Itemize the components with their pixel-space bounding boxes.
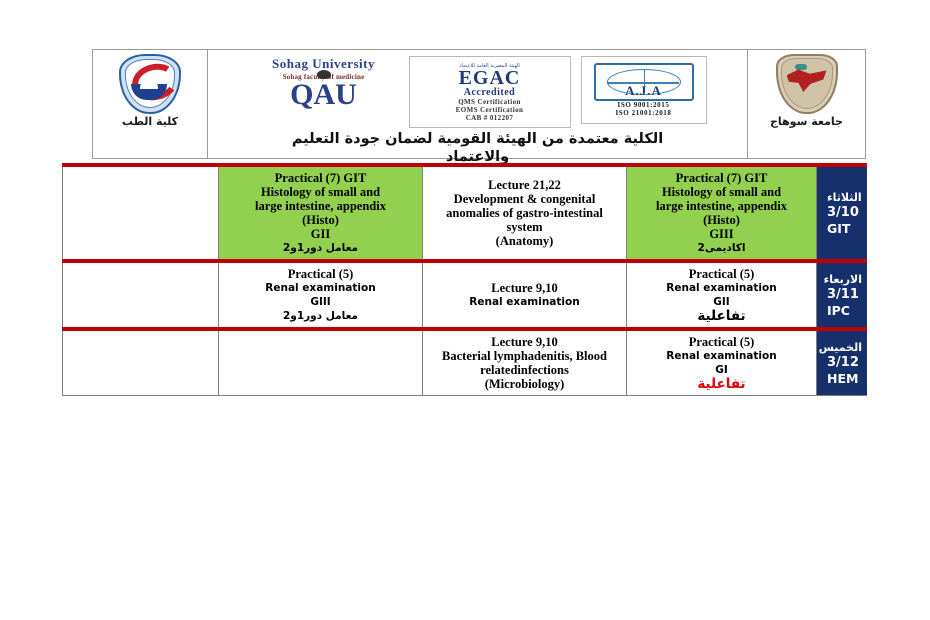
schedule-cell-practical-left[interactable] (219, 329, 423, 396)
schedule-day-date: 3/12 (827, 355, 862, 371)
schedule-cell-content: Practical (7) GITHistology of small andl… (631, 171, 812, 255)
schedule-day-date: 3/11 (827, 287, 862, 303)
schedule-cell-line: تفاعلية (631, 377, 812, 391)
schedule-day-date: 3/10 (827, 205, 862, 221)
schedule-cell-practical-left[interactable]: Practical (7) GITHistology of small andl… (219, 165, 423, 261)
schedule-cell-line: Lecture 9,10 (427, 335, 622, 349)
schedule-cell-line: (Histo) (631, 213, 812, 227)
schedule-cell-lecture[interactable]: Lecture 9,10Bacterial lymphadenitis, Blo… (423, 329, 627, 396)
schedule-cell-lecture[interactable]: Lecture 9,10Renal examination (423, 261, 627, 329)
schedule-table: Practical (7) GITHistology of small andl… (62, 163, 867, 396)
faculty-of-medicine-shield-logo-icon (119, 54, 181, 114)
schedule-day-module-code: IPC (827, 303, 862, 319)
schedule-cell-line: Bacterial lymphadenitis, Blood (427, 349, 622, 363)
document-header: كلية الطب Sohag University Sohag faculty… (92, 49, 866, 159)
aja-globe-icon: A.J.A (594, 63, 694, 101)
schedule-cell-line: معامل دور1و2 (223, 309, 418, 323)
schedule-cell-line: Renal examination (223, 281, 418, 295)
schedule-cell-line: Lecture 9,10 (427, 281, 622, 295)
schedule-day-content: الخميس3/12HEM (821, 340, 862, 387)
schedule-cell-line: Development & congenital (427, 192, 622, 206)
faculty-of-medicine-caption: كلية الطب (122, 115, 178, 128)
schedule-cell-line: (Histo) (223, 213, 418, 227)
schedule-cell-line: Practical (5) (223, 267, 418, 281)
schedule-day-module-code: GIT (827, 221, 862, 237)
aja-iso21001-line: ISO 21001:2018 (615, 109, 671, 117)
schedule-cell-content: Practical (7) GITHistology of small andl… (223, 171, 418, 255)
accreditation-statement: الكلية معتمدة من الهيئة القومية لضمان جو… (208, 130, 747, 166)
accreditation-statement-line1: الكلية معتمدة من الهيئة القومية لضمان جو… (208, 130, 747, 148)
schedule-cell-practical-right[interactable]: Practical (5)Renal examinationGIIتفاعلية (627, 261, 817, 329)
header-right-logo-cell: جامعة سوهاج (747, 50, 865, 158)
qau-acronym: QAU (290, 80, 357, 110)
aja-registrars-logo-icon: A.J.A ISO 9001:2015 ISO 21001:2018 (581, 56, 707, 124)
schedule-cell-content: Practical (5)Renal examinationGIIIمعامل … (223, 267, 418, 323)
egac-mark: EGAC (459, 69, 521, 87)
schedule-cell-col1[interactable] (63, 261, 219, 329)
schedule-cell-line: anomalies of gastro-intestinal (427, 206, 622, 220)
schedule-cell-line: GIII (631, 227, 812, 241)
schedule-cell-col1[interactable] (63, 165, 219, 261)
schedule-day-name: الاربعاء (827, 272, 862, 287)
header-left-logo-cell: كلية الطب (93, 50, 208, 158)
schedule-day-name: الثلاثاء (827, 190, 862, 205)
egac-qms-line: QMS Certification (458, 98, 521, 106)
schedule-cell-line: Practical (5) (631, 335, 812, 349)
qau-bird-icon (317, 70, 331, 79)
schedule-row: Practical (5)Renal examinationGIIIمعامل … (63, 261, 867, 329)
schedule-cell-line: Renal examination (427, 295, 622, 309)
schedule-day-content: الاربعاء3/11IPC (821, 272, 862, 319)
schedule-cell-line: system (427, 220, 622, 234)
schedule-cell-line: (Microbiology) (427, 377, 622, 391)
egac-accredited-logo-icon: الهيئة المصرية العامة للاعتماد EGAC Accr… (409, 56, 571, 128)
aja-mark: A.J.A (625, 83, 662, 99)
schedule-cell-line: Histology of small and (631, 185, 812, 199)
schedule-cell-content: Lecture 9,10Bacterial lymphadenitis, Blo… (427, 335, 622, 391)
schedule-cell-line: Histology of small and (223, 185, 418, 199)
schedule-day-cell[interactable]: الثلاثاء3/10GIT (817, 165, 867, 261)
schedule-day-cell[interactable]: الخميس3/12HEM (817, 329, 867, 396)
schedule-cell-line: Practical (7) GIT (223, 171, 418, 185)
schedule-cell-line: GI (631, 363, 812, 377)
schedule-row: Lecture 9,10Bacterial lymphadenitis, Blo… (63, 329, 867, 396)
egac-eoms-line: EOMS Certification (456, 106, 524, 114)
schedule-cell-col1[interactable] (63, 329, 219, 396)
schedule-cell-line: اكاديمى2 (631, 241, 812, 255)
schedule-cell-content: Lecture 21,22Development & congenitalano… (427, 178, 622, 248)
egac-cab-line: CAB # 012207 (466, 114, 514, 122)
schedule-cell-line: GII (223, 227, 418, 241)
schedule-cell-practical-right[interactable]: Practical (5)Renal examinationGIتفاعلية (627, 329, 817, 396)
schedule-day-cell[interactable]: الاربعاء3/11IPC (817, 261, 867, 329)
sohag-university-shield-logo-icon (776, 54, 838, 114)
schedule-day-module-code: HEM (827, 371, 862, 387)
schedule-cell-line: Practical (5) (631, 267, 812, 281)
schedule-cell-content: Practical (5)Renal examinationGIIتفاعلية (631, 267, 812, 323)
schedule-cell-line: relatedinfections (427, 363, 622, 377)
qau-logo-icon: Sohag University Sohag faculty of medici… (249, 56, 399, 128)
schedule-cell-practical-left[interactable]: Practical (5)Renal examinationGIIIمعامل … (219, 261, 423, 329)
schedule-cell-line: large intestine, appendix (223, 199, 418, 213)
schedule-cell-practical-right[interactable]: Practical (7) GITHistology of small andl… (627, 165, 817, 261)
schedule-cell-line: معامل دور1و2 (223, 241, 418, 255)
schedule-cell-content: Lecture 9,10Renal examination (427, 281, 622, 309)
schedule-cell-line: GII (631, 295, 812, 309)
sohag-university-caption: جامعة سوهاج (770, 115, 843, 128)
schedule-cell-lecture[interactable]: Lecture 21,22Development & congenitalano… (423, 165, 627, 261)
schedule-cell-line: Practical (7) GIT (631, 171, 812, 185)
schedule-cell-line: (Anatomy) (427, 234, 622, 248)
schedule-cell-line: large intestine, appendix (631, 199, 812, 213)
schedule-cell-line: Lecture 21,22 (427, 178, 622, 192)
egac-accredited-word: Accredited (464, 87, 515, 98)
schedule-day-content: الثلاثاء3/10GIT (821, 190, 862, 237)
schedule-row: Practical (7) GITHistology of small andl… (63, 165, 867, 261)
schedule-cell-line: GIII (223, 295, 418, 309)
schedule-cell-content: Practical (5)Renal examinationGIتفاعلية (631, 335, 812, 391)
aja-iso9001-line: ISO 9001:2015 (618, 101, 670, 109)
schedule-cell-line: تفاعلية (631, 309, 812, 323)
schedule-cell-line: Renal examination (631, 349, 812, 363)
schedule-day-name: الخميس (827, 340, 862, 355)
accreditation-logo-row: Sohag University Sohag faculty of medici… (249, 54, 707, 128)
schedule-cell-line: Renal examination (631, 281, 812, 295)
header-center-cell: Sohag University Sohag faculty of medici… (208, 50, 747, 158)
